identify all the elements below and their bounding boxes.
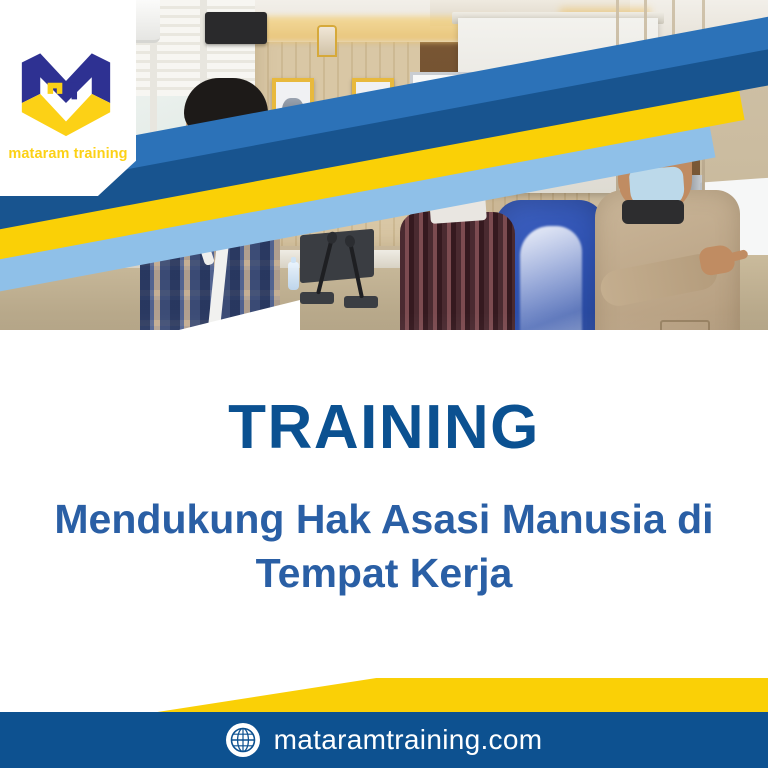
website-url[interactable]: mataramtraining.com <box>274 724 543 756</box>
globe-icon <box>226 723 260 757</box>
page-title: TRAINING <box>0 392 768 463</box>
training-poster: mataram training TRAINING Mendukung Hak … <box>0 0 768 768</box>
page-subtitle: Mendukung Hak Asasi Manusia di Tempat Ke… <box>44 492 724 600</box>
bottom-yellow-accent <box>0 678 768 712</box>
footer-bar: mataramtraining.com <box>0 712 768 768</box>
mataram-m-chevron-logo-icon <box>20 46 112 138</box>
logo-container[interactable]: mataram training <box>0 0 136 196</box>
logo-wordmark: mataram training <box>0 146 136 162</box>
